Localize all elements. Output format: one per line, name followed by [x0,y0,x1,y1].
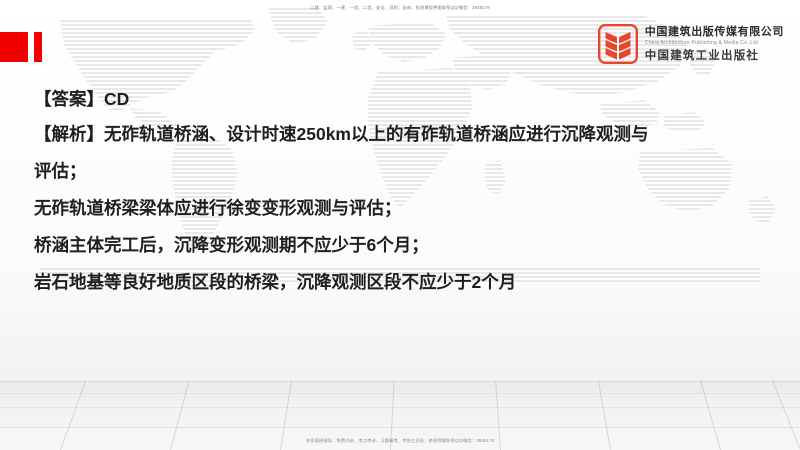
explanation-line-5: 岩石地基等良好地质区段的桥梁，沉降观测区段不应少于2个月 [34,264,774,301]
header-promo-note: 二建、监理、一建、一造、二造、安全、消防、咨询、检测课程押题联系QQ/微信：38… [0,4,800,12]
publisher-logo: 中国建筑出版传媒有限公司 China Architecture Publishi… [598,24,784,64]
publisher-press-cn: 中国建筑工业出版社 [645,48,784,62]
floor-grid-line-h [0,407,800,408]
floor-grid-line-h [0,427,800,428]
footer-promo-note: 名师面授辅导、免费内训、考点串讲、习题精考、考前三页纸、绝密押题联系QQ/微信：… [0,437,800,445]
floor-grid-line-h [0,393,800,394]
publisher-emblem-icon [598,24,638,64]
explanation-line-2: 评估； [34,153,774,190]
publisher-company-cn: 中国建筑出版传媒有限公司 [645,26,784,39]
answer-line: 【答案】CD [34,82,774,116]
publisher-logo-text: 中国建筑出版传媒有限公司 China Architecture Publishi… [645,26,784,62]
publisher-company-en: China Architecture Publishing & Media Co… [645,40,784,47]
accent-bar-icon [34,32,42,62]
explanation-line-1: 【解析】无砟轨道桥涵、设计时速250km以上的有砟轨道桥涵应进行沉降观测与 [34,116,774,153]
presentation-slide: 二建、监理、一建、一造、二造、安全、消防、咨询、检测课程押题联系QQ/微信：38… [0,0,800,450]
explanation-line-4: 桥涵主体完工后，沉降变形观测期不应少于6个月； [34,227,774,264]
explanation-line-3: 无砟轨道桥梁梁体应进行徐变变形观测与评估； [34,190,774,227]
floor-horizon-line [0,381,800,382]
accent-square-icon [0,32,28,62]
slide-body-content: 【答案】CD 【解析】无砟轨道桥涵、设计时速250km以上的有砟轨道桥涵应进行沉… [34,82,774,301]
